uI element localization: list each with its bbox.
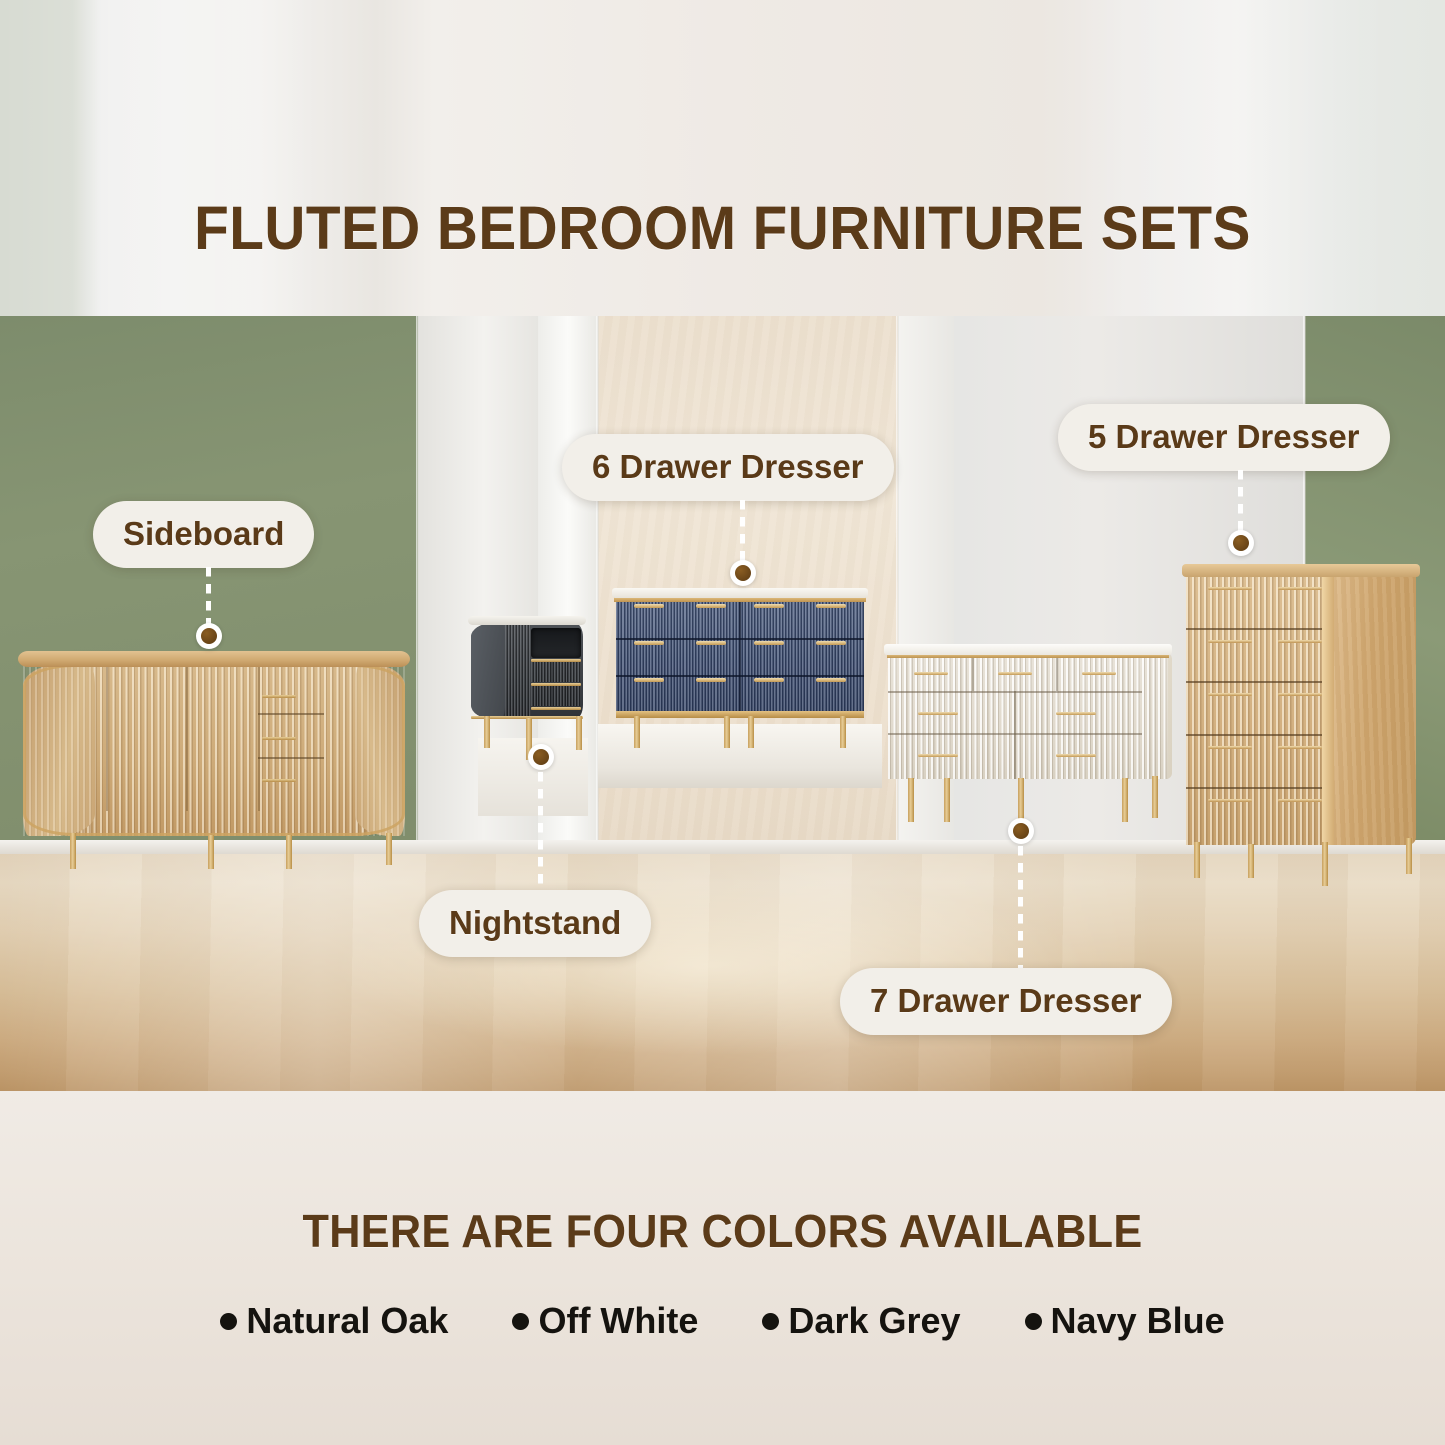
callout-leader-line	[1018, 846, 1023, 968]
dresser-leg	[1406, 838, 1412, 874]
product-infographic: FLUTED BEDROOM FURNITURE SETS	[0, 0, 1445, 1445]
dresser-handle	[634, 604, 664, 608]
nightstand-top-surface	[468, 616, 586, 625]
dresser-handle	[998, 672, 1032, 675]
dresser-leg	[1194, 842, 1200, 878]
callout-dot	[528, 744, 554, 770]
dresser-drawer-line	[1186, 681, 1328, 683]
dresser-handle	[1278, 799, 1322, 802]
product-five-drawer-dresser	[1182, 564, 1420, 864]
dresser-leg	[1122, 778, 1128, 822]
nightstand-curved-end	[471, 623, 505, 719]
dresser-top-surface	[1182, 564, 1420, 577]
dresser-leg	[908, 778, 914, 822]
callout-dot	[1008, 818, 1034, 844]
dresser-leg	[944, 778, 950, 822]
callout-dot	[196, 623, 222, 649]
bullet-icon	[1025, 1313, 1042, 1330]
dresser-gold-base	[616, 711, 864, 718]
dresser-handle	[816, 678, 846, 682]
fluted-texture	[505, 623, 531, 719]
colors-heading: THERE ARE FOUR COLORS AVAILABLE	[43, 1204, 1401, 1258]
dresser-top-surface	[612, 588, 868, 598]
product-seven-drawer-dresser	[884, 644, 1172, 824]
dresser-handle	[1208, 746, 1252, 749]
dresser-drawer-line	[1186, 734, 1328, 736]
dresser-handle	[918, 754, 958, 757]
dresser-body	[1186, 575, 1328, 845]
dresser-handle	[1056, 754, 1096, 757]
dresser-handle	[634, 641, 664, 645]
color-option-label: Navy Blue	[1051, 1300, 1225, 1342]
dresser-handle	[1278, 640, 1322, 643]
dresser-corner-post	[1322, 569, 1334, 845]
fluted-texture	[1186, 575, 1328, 845]
dresser-leg	[840, 716, 846, 748]
dresser-handle	[1208, 587, 1252, 590]
dresser-handle	[696, 604, 726, 608]
sideboard-frame	[23, 664, 405, 836]
dresser-handle	[1278, 587, 1322, 590]
sideboard-leg	[208, 835, 214, 869]
dresser-handle	[1208, 640, 1252, 643]
dresser-leg	[724, 716, 730, 748]
dresser-handle	[1208, 693, 1252, 696]
color-option-dark-grey[interactable]: Dark Grey	[762, 1300, 960, 1342]
dresser-handle	[1208, 799, 1252, 802]
callout-leader-line	[1238, 470, 1243, 532]
product-sideboard	[18, 651, 410, 851]
dresser-handle	[754, 641, 784, 645]
callout-dot	[1228, 530, 1254, 556]
callout-label-six-drawer[interactable]: 6 Drawer Dresser	[562, 434, 894, 501]
bullet-icon	[762, 1313, 779, 1330]
callout-label-sideboard[interactable]: Sideboard	[93, 501, 314, 568]
nightstand-gold-trim	[531, 659, 581, 662]
callout-leader-line	[206, 567, 211, 627]
product-nightstand	[468, 616, 586, 766]
fluted-texture	[888, 657, 1168, 779]
callout-label-nightstand[interactable]: Nightstand	[419, 890, 651, 957]
sideboard-leg	[386, 833, 392, 865]
callout-leader-line	[740, 500, 745, 562]
dresser-handle	[634, 678, 664, 682]
dresser-handle	[754, 678, 784, 682]
dresser-leg	[748, 716, 754, 748]
nightstand-drawer	[531, 662, 581, 682]
wall-seam	[896, 316, 899, 916]
dresser-drawer-divider	[1014, 691, 1016, 779]
dresser-handle	[1082, 672, 1116, 675]
dresser-handle	[1056, 712, 1096, 715]
bullet-icon	[220, 1313, 237, 1330]
dresser-handle	[1278, 693, 1322, 696]
nightstand-open-shelf	[531, 628, 581, 658]
dresser-handle	[1278, 746, 1322, 749]
dresser-body	[616, 601, 864, 713]
dresser-handle	[816, 641, 846, 645]
nightstand-leg	[484, 716, 490, 748]
header-band	[0, 0, 1445, 316]
nightstand-leg	[576, 716, 582, 750]
dresser-body	[888, 657, 1168, 779]
color-option-natural-oak[interactable]: Natural Oak	[220, 1300, 448, 1342]
wall-seam	[596, 316, 599, 916]
page-title: FLUTED BEDROOM FURNITURE SETS	[51, 193, 1395, 263]
dresser-handle	[816, 604, 846, 608]
callout-label-five-drawer[interactable]: 5 Drawer Dresser	[1058, 404, 1390, 471]
dresser-handle	[696, 641, 726, 645]
dresser-center-divider	[739, 601, 741, 713]
color-option-label: Dark Grey	[788, 1300, 960, 1342]
dresser-top-surface	[884, 644, 1172, 655]
dresser-leg	[1322, 842, 1328, 886]
nightstand-gold-trim	[531, 683, 581, 686]
color-option-navy-blue[interactable]: Navy Blue	[1025, 1300, 1225, 1342]
bullet-icon	[512, 1313, 529, 1330]
dresser-drawer-line	[1186, 628, 1328, 630]
color-option-label: Natural Oak	[246, 1300, 448, 1342]
dresser-handle	[914, 672, 948, 675]
dresser-drawer-divider	[972, 657, 974, 691]
color-option-off-white[interactable]: Off White	[512, 1300, 698, 1342]
nightstand-gold-trim	[531, 707, 581, 710]
footer-band	[0, 1091, 1445, 1445]
color-options-list: Natural Oak Off White Dark Grey Navy Blu…	[0, 1300, 1445, 1342]
wall-panel-c	[898, 316, 954, 916]
dresser-leg	[1152, 776, 1158, 818]
dresser-leg	[1248, 844, 1254, 878]
dresser-drawer-divider	[1056, 657, 1058, 691]
sideboard-top-surface	[18, 651, 410, 667]
callout-dot	[730, 560, 756, 586]
product-six-drawer-dresser	[612, 588, 868, 766]
callout-label-seven-drawer[interactable]: 7 Drawer Dresser	[840, 968, 1172, 1035]
callout-leader-line	[538, 772, 543, 888]
sideboard-leg	[286, 835, 292, 869]
dresser-handle	[696, 678, 726, 682]
color-option-label: Off White	[538, 1300, 698, 1342]
dresser-side-panel	[1328, 569, 1416, 845]
nightstand-drawer	[531, 686, 581, 706]
dresser-drawer-line	[1186, 787, 1328, 789]
dresser-handle	[754, 604, 784, 608]
sideboard-leg	[70, 833, 76, 869]
wall-seam	[416, 316, 419, 916]
dresser-leg	[634, 716, 640, 748]
dresser-handle	[918, 712, 958, 715]
